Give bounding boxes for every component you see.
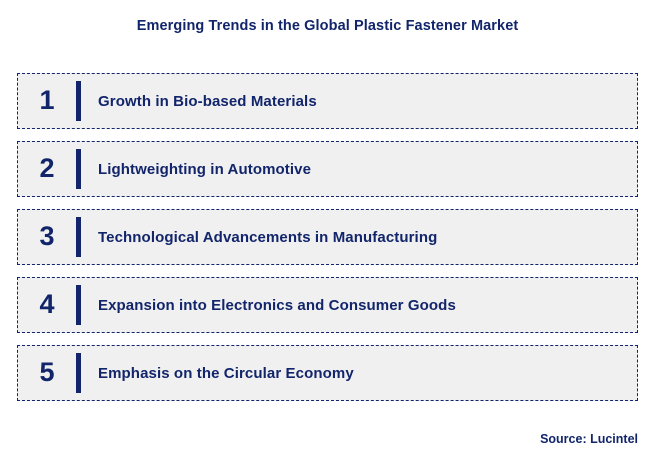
trend-label: Technological Advancements in Manufactur… — [81, 229, 637, 246]
trend-label: Lightweighting in Automotive — [81, 161, 637, 178]
page-title: Emerging Trends in the Global Plastic Fa… — [0, 18, 655, 34]
trend-label: Growth in Bio-based Materials — [81, 93, 637, 110]
trend-list: 1 Growth in Bio-based Materials 2 Lightw… — [17, 73, 638, 401]
trend-row: 5 Emphasis on the Circular Economy — [17, 345, 638, 401]
trend-rank-number: 2 — [18, 155, 76, 184]
trend-label: Expansion into Electronics and Consumer … — [81, 297, 637, 314]
infographic-canvas: Emerging Trends in the Global Plastic Fa… — [0, 0, 655, 468]
trend-row: 2 Lightweighting in Automotive — [17, 141, 638, 197]
trend-rank-number: 3 — [18, 223, 76, 252]
trend-rank-number: 1 — [18, 87, 76, 116]
source-attribution: Source: Lucintel — [540, 432, 638, 446]
trend-rank-number: 5 — [18, 359, 76, 388]
trend-row: 4 Expansion into Electronics and Consume… — [17, 277, 638, 333]
trend-row: 3 Technological Advancements in Manufact… — [17, 209, 638, 265]
trend-row: 1 Growth in Bio-based Materials — [17, 73, 638, 129]
trend-rank-number: 4 — [18, 291, 76, 320]
trend-label: Emphasis on the Circular Economy — [81, 365, 637, 382]
